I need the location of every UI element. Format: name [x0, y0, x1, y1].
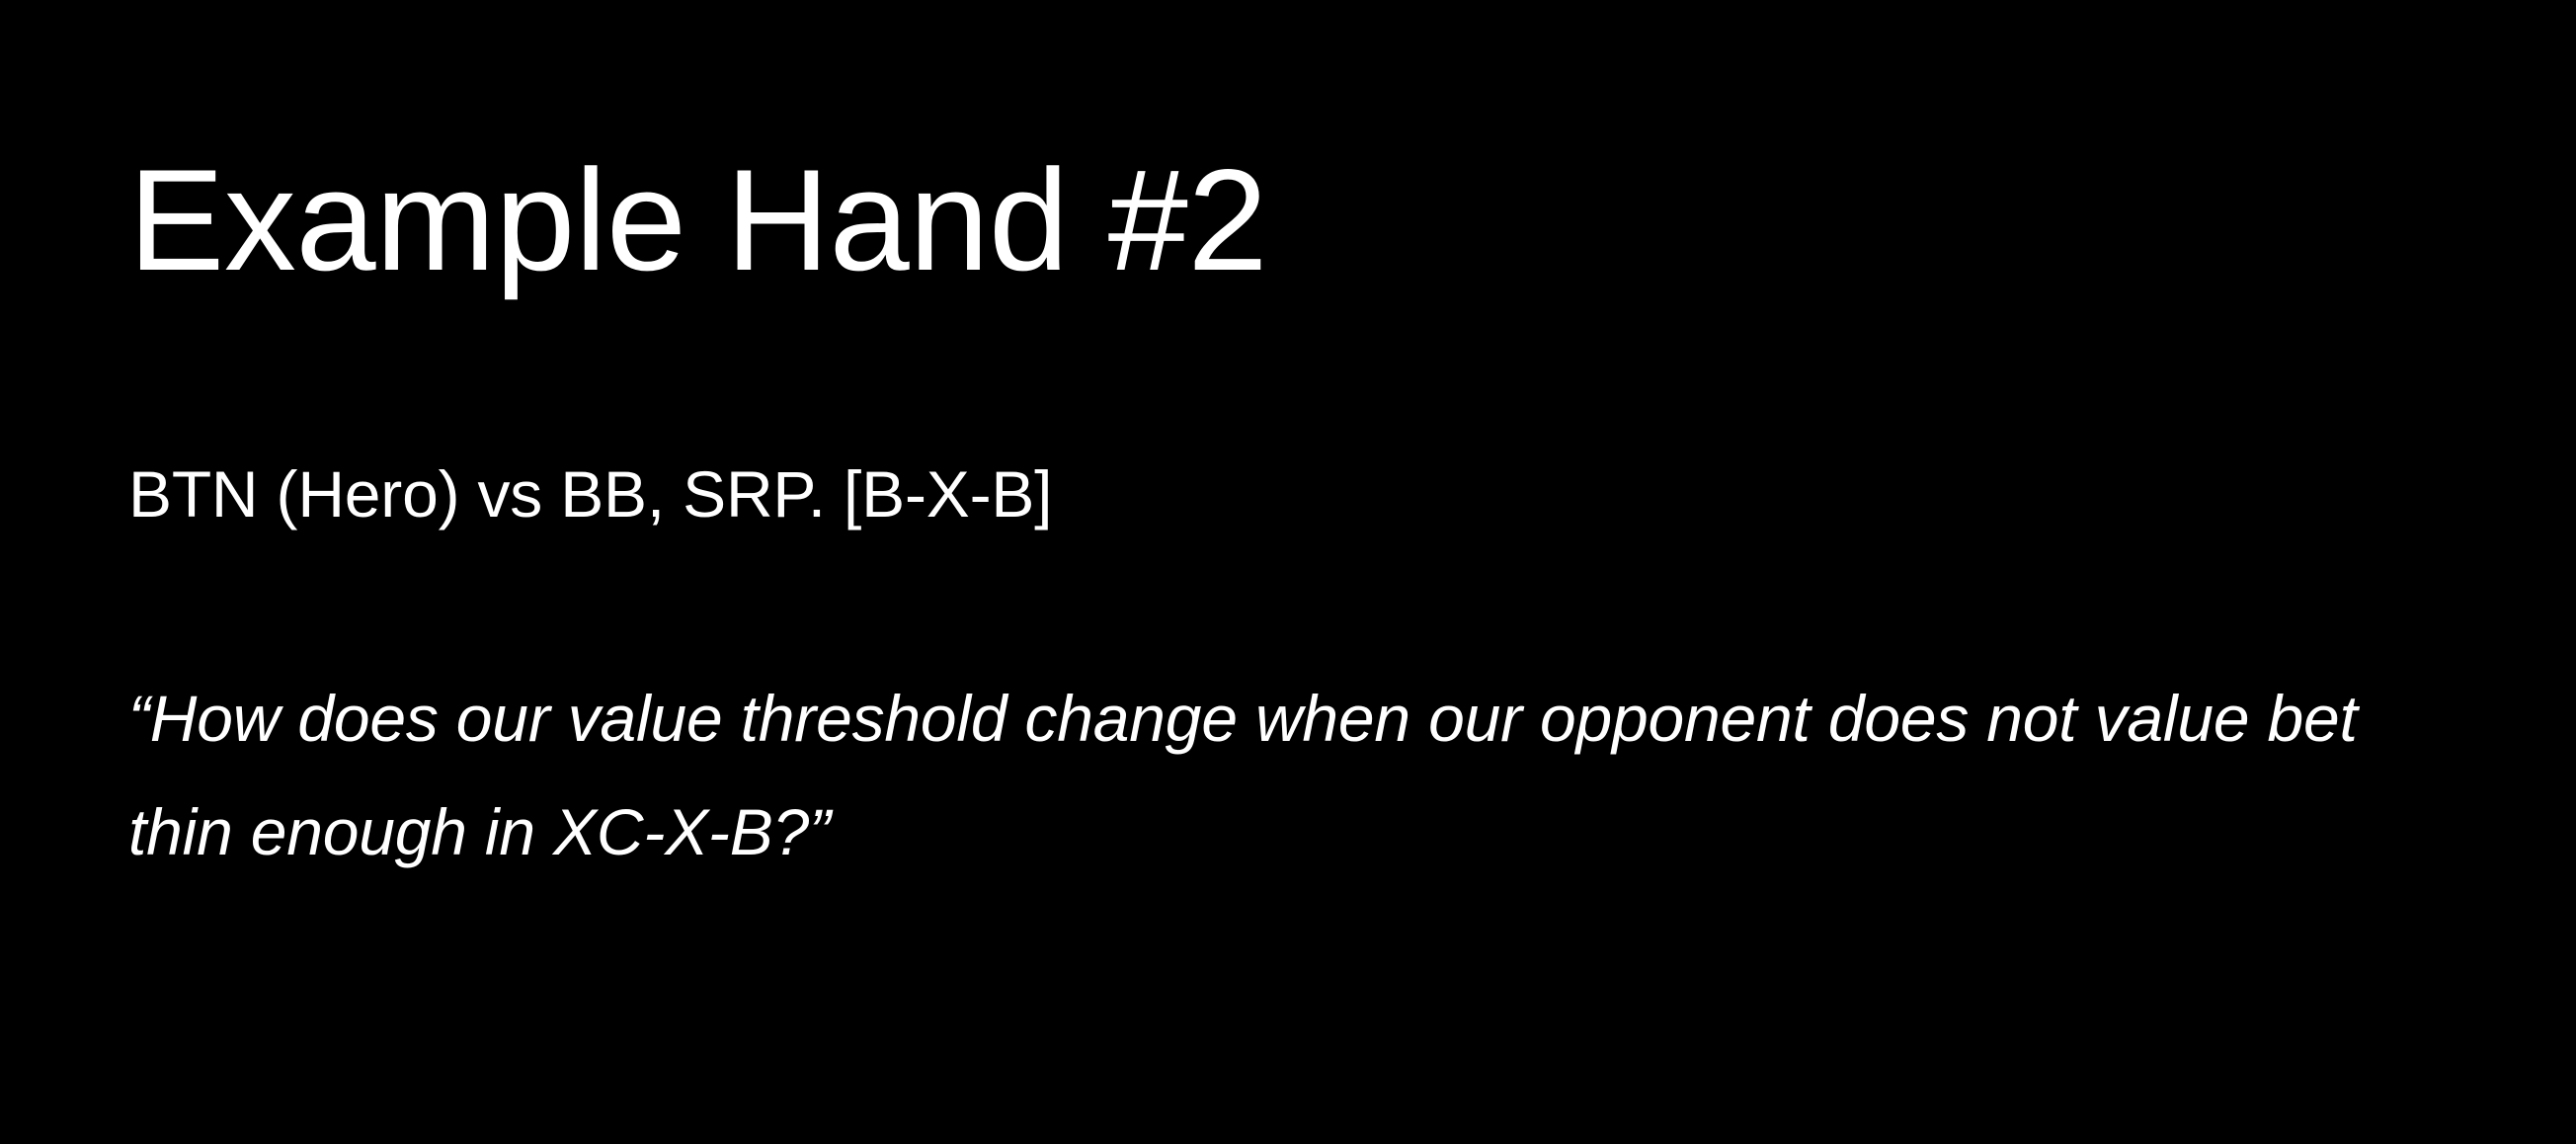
strategy-question-quote: “How does our value threshold change whe… — [128, 662, 2430, 889]
slide-body: BTN (Hero) vs BB, SRP. [B-X-B] “How does… — [128, 456, 2459, 889]
page-title: Example Hand #2 — [128, 148, 1267, 292]
body-spacer — [128, 533, 2459, 662]
hand-setup-line: BTN (Hero) vs BB, SRP. [B-X-B] — [128, 456, 2459, 533]
presentation-slide: Example Hand #2 BTN (Hero) vs BB, SRP. [… — [0, 0, 2576, 1144]
